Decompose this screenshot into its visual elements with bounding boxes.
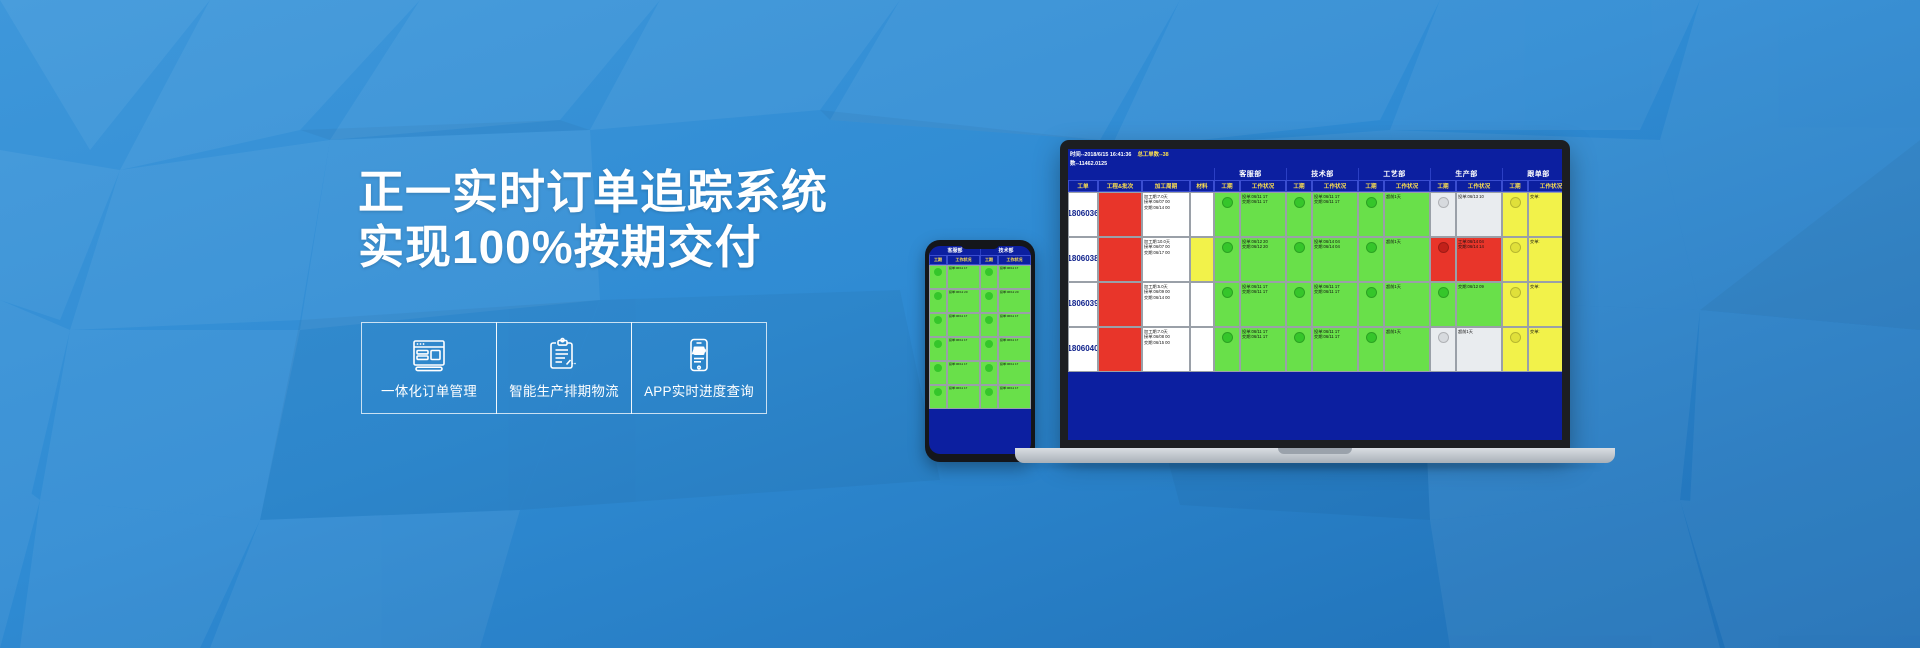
cell-material[interactable]	[1190, 237, 1214, 282]
cell-status-indicator[interactable]	[1502, 192, 1528, 237]
column-header[interactable]: 工程&批次	[1098, 180, 1142, 192]
dashboard-status-bar-2: 数--11462.0125	[1068, 158, 1562, 168]
cell-material[interactable]	[1190, 192, 1214, 237]
cell-status-indicator[interactable]	[1430, 282, 1456, 327]
phone-cell-status-indicator[interactable]	[929, 289, 947, 313]
phone-cell-status-indicator[interactable]	[929, 337, 947, 361]
cell-work-status[interactable]: 投单:06/11 17交期:06/11 17	[1312, 282, 1358, 327]
headline-line-1: 正一实时订单追踪系统	[358, 165, 878, 220]
phone-column-header[interactable]: 工期	[929, 255, 947, 265]
cell-order-number[interactable]: 1806038	[1068, 237, 1098, 282]
phone-column-header[interactable]: 工期	[980, 255, 998, 265]
cell-status-indicator[interactable]	[1430, 327, 1456, 372]
cell-work-status[interactable]: 交单:	[1528, 192, 1562, 237]
cell-status-indicator[interactable]	[1430, 192, 1456, 237]
cell-work-status[interactable]: 投单:06/11 17交期:06/11 17	[1312, 192, 1358, 237]
column-header[interactable]: 工作状况	[1456, 180, 1502, 192]
cell-work-status[interactable]: 交单:	[1528, 282, 1562, 327]
cell-work-status[interactable]: 超前1天	[1384, 282, 1430, 327]
column-header-row: 工单工程&批次加工周期材料工期工作状况工期工作状况工期工作状况工期工作状况工期工…	[1068, 180, 1562, 192]
clipboard-schedule-icon	[544, 337, 584, 373]
cell-work-status[interactable]: 超前1天	[1384, 192, 1430, 237]
cell-material[interactable]	[1190, 327, 1214, 372]
status-total-orders: 总工单数--38	[1137, 150, 1168, 158]
feature-label: 一体化订单管理	[381, 380, 477, 400]
cell-processing-cycle[interactable]: 加工期:7.0天接单:06/08 00交期:06/15 00	[1142, 327, 1190, 372]
table-row[interactable]: 1806036加工期:7.0天接单:06/07 00交期:06/14 00投单:…	[1068, 192, 1562, 237]
feature-item-production-scheduling[interactable]: 智能生产排期物流	[496, 322, 632, 414]
cell-work-status[interactable]: 交期:06/12 09	[1456, 282, 1502, 327]
cell-status-indicator[interactable]	[1286, 282, 1312, 327]
cell-processing-cycle[interactable]: 加工期:5.0天接单:06/09 00交期:06/14 00	[1142, 282, 1190, 327]
phone-cell-status-indicator[interactable]	[929, 361, 947, 385]
cell-status-indicator[interactable]	[1286, 237, 1312, 282]
cell-work-status[interactable]: 交单:	[1528, 237, 1562, 282]
cell-work-status[interactable]: 投单:06/14 04交期:06/14 04	[1312, 237, 1358, 282]
laptop-screen[interactable]: 时间--2018/6/15 16:41:36 总工单数--38 数--11462…	[1068, 149, 1562, 440]
phone-cell-work-status[interactable]: 投单:06/11 17	[947, 313, 980, 337]
dashboard-body: 1806036加工期:7.0天接单:06/07 00交期:06/14 00投单:…	[1068, 192, 1562, 372]
column-header[interactable]: 工作状况	[1312, 180, 1358, 192]
cell-status-indicator[interactable]	[1214, 282, 1240, 327]
cell-processing-cycle[interactable]: 加工期:10.0天接单:06/07 00交期:06/17 00	[1142, 237, 1190, 282]
phone-cell-status-indicator[interactable]	[980, 289, 998, 313]
department-header[interactable]: 技术部	[1286, 168, 1358, 180]
app-badge-text: APP	[693, 348, 706, 355]
column-header[interactable]: 工期	[1358, 180, 1384, 192]
table-row[interactable]: 1806039加工期:5.0天接单:06/09 00交期:06/14 00投单:…	[1068, 282, 1562, 327]
cell-status-indicator[interactable]	[1286, 192, 1312, 237]
phone-column-header[interactable]: 工作状况	[947, 255, 980, 265]
phone-cell-status-indicator[interactable]	[980, 313, 998, 337]
cell-work-status[interactable]: 投单:06/11 17交期:06/11 17	[1312, 327, 1358, 372]
cell-project-batch[interactable]	[1098, 282, 1142, 327]
phone-cell-status-indicator[interactable]	[929, 385, 947, 409]
cell-project-batch[interactable]	[1098, 327, 1142, 372]
column-header[interactable]: 工作状况	[1384, 180, 1430, 192]
phone-cell-status-indicator[interactable]	[929, 313, 947, 337]
feature-item-app-tracking[interactable]: APP APP实时进度查询	[631, 322, 767, 414]
cell-material[interactable]	[1190, 282, 1214, 327]
phone-cell-status-indicator[interactable]	[980, 385, 998, 409]
column-header[interactable]: 工期	[1430, 180, 1456, 192]
cell-status-indicator[interactable]	[1286, 327, 1312, 372]
cell-work-status[interactable]: 超前1天	[1384, 237, 1430, 282]
cell-project-batch[interactable]	[1098, 237, 1142, 282]
mobile-app-icon: APP	[679, 337, 719, 373]
dashboard-window-icon	[409, 337, 449, 373]
cell-work-status[interactable]: 投单:06/12 20交期:06/12 20	[1240, 237, 1286, 282]
phone-cell-work-status[interactable]: 投单:06/11 17	[947, 385, 980, 409]
phone-cell-status-indicator[interactable]	[980, 265, 998, 289]
department-header[interactable]: 生产部	[1430, 168, 1502, 180]
phone-cell-status-indicator[interactable]	[929, 265, 947, 289]
department-header[interactable]: 工艺部	[1358, 168, 1430, 180]
column-header[interactable]: 工期	[1286, 180, 1312, 192]
cell-order-number[interactable]: 1806040	[1068, 327, 1098, 372]
cell-order-number[interactable]: 1806036	[1068, 192, 1098, 237]
cell-work-status[interactable]: 投单:06/11 17交期:06/11 17	[1240, 327, 1286, 372]
department-header-row: 客服部技术部工艺部生产部跟单部	[1068, 168, 1562, 180]
cell-work-status[interactable]: 投单:06/11 17交期:06/11 17	[1240, 192, 1286, 237]
order-tracking-dashboard: 时间--2018/6/15 16:41:36 总工单数--38 数--11462…	[1068, 149, 1562, 440]
laptop-base	[1015, 448, 1615, 463]
cell-work-status[interactable]: 超前1天	[1456, 327, 1502, 372]
cell-status-indicator[interactable]	[1502, 237, 1528, 282]
cell-processing-cycle[interactable]: 加工期:7.0天接单:06/07 00交期:06/14 00	[1142, 192, 1190, 237]
cell-status-indicator[interactable]	[1358, 237, 1384, 282]
table-row[interactable]: 1806040加工期:7.0天接单:06/08 00交期:06/15 00投单:…	[1068, 327, 1562, 372]
cell-status-indicator[interactable]	[1502, 327, 1528, 372]
phone-cell-work-status[interactable]: 投单:06/12 20	[947, 289, 980, 313]
department-row-spacer	[1068, 168, 1214, 180]
phone-notch	[961, 243, 999, 249]
cell-status-indicator[interactable]	[1214, 237, 1240, 282]
cell-project-batch[interactable]	[1098, 192, 1142, 237]
phone-cell-work-status[interactable]: 投单:06/11 17	[947, 337, 980, 361]
column-header[interactable]: 工期	[1214, 180, 1240, 192]
column-header[interactable]: 工作状况	[1240, 180, 1286, 192]
column-header[interactable]: 工单	[1068, 180, 1098, 192]
cell-work-status[interactable]: 工单:06/14 04交期:06/14 14	[1456, 237, 1502, 282]
cell-status-indicator[interactable]	[1214, 192, 1240, 237]
cell-status-indicator[interactable]	[1358, 282, 1384, 327]
phone-cell-work-status[interactable]: 投单:06/11 17	[947, 361, 980, 385]
headline-line-2: 实现100%按期交付	[358, 220, 878, 275]
cell-status-indicator[interactable]	[1358, 327, 1384, 372]
feature-label: APP实时进度查询	[644, 380, 754, 400]
cell-work-status[interactable]: 交单:	[1528, 327, 1562, 372]
department-header[interactable]: 客服部	[1214, 168, 1286, 180]
feature-item-order-management[interactable]: 一体化订单管理	[361, 322, 497, 414]
column-header[interactable]: 加工周期	[1142, 180, 1190, 192]
column-header[interactable]: 工作状况	[1528, 180, 1562, 192]
table-row[interactable]: 1806038加工期:10.0天接单:06/07 00交期:06/17 00投单…	[1068, 237, 1562, 282]
cell-work-status[interactable]: 投单:06/13 10	[1456, 192, 1502, 237]
department-header[interactable]: 跟单部	[1502, 168, 1562, 180]
phone-cell-work-status[interactable]: 投单:06/11 17	[947, 265, 980, 289]
phone-cell-status-indicator[interactable]	[980, 337, 998, 361]
cell-work-status[interactable]: 超前1天	[1384, 327, 1430, 372]
cell-status-indicator[interactable]	[1358, 192, 1384, 237]
cell-status-indicator[interactable]	[1430, 237, 1456, 282]
feature-label: 智能生产排期物流	[509, 380, 619, 400]
status-time: 时间--2018/6/15 16:41:36	[1070, 150, 1131, 158]
phone-cell-status-indicator[interactable]	[980, 361, 998, 385]
status-count: 数--11462.0125	[1070, 159, 1107, 167]
cell-order-number[interactable]: 1806039	[1068, 282, 1098, 327]
feature-list: 一体化订单管理 智能生产排期物流 APP APP实时进度查询	[362, 322, 767, 414]
laptop-mockup: 时间--2018/6/15 16:41:36 总工单数--38 数--11462…	[1015, 140, 1615, 490]
headline-block: 正一实时订单追踪系统 实现100%按期交付	[358, 165, 878, 275]
laptop-shadow	[1029, 462, 1601, 469]
cell-status-indicator[interactable]	[1214, 327, 1240, 372]
column-header[interactable]: 工期	[1502, 180, 1528, 192]
column-header[interactable]: 材料	[1190, 180, 1214, 192]
cell-work-status[interactable]: 投单:06/11 17交期:06/11 17	[1240, 282, 1286, 327]
cell-status-indicator[interactable]	[1502, 282, 1528, 327]
laptop-lid: 时间--2018/6/15 16:41:36 总工单数--38 数--11462…	[1060, 140, 1570, 452]
